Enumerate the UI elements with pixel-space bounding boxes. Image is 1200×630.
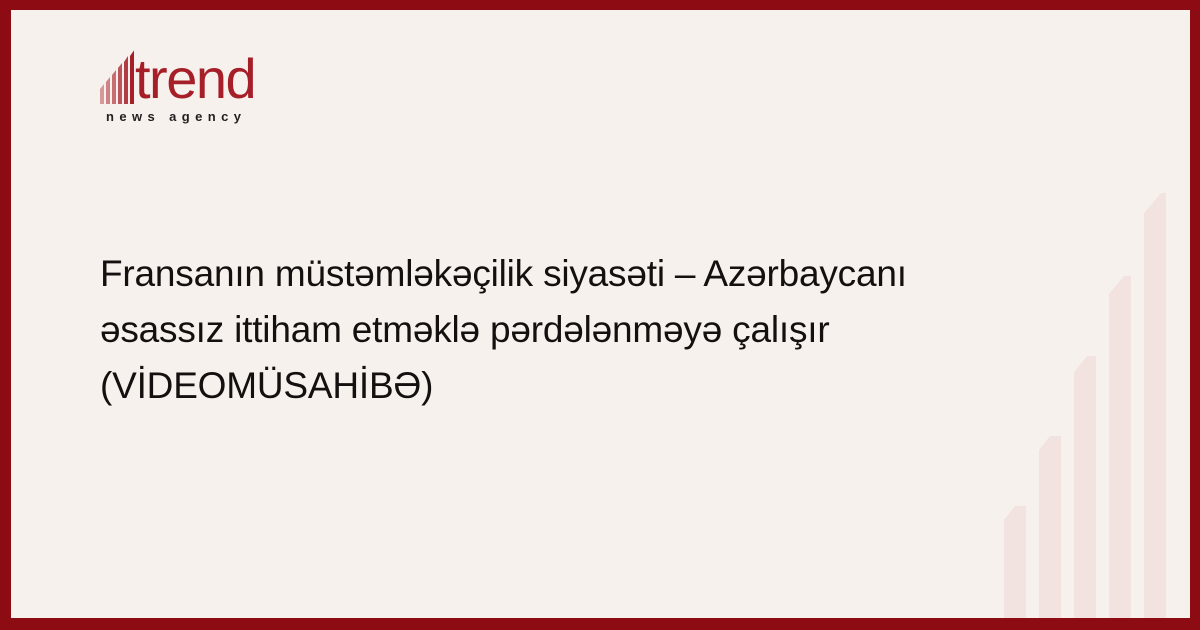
logo-mark-bar-2 bbox=[106, 77, 110, 104]
decorative-bar-1 bbox=[1004, 506, 1026, 618]
decorative-bar-3 bbox=[1074, 356, 1096, 618]
logo-mark-bar-5 bbox=[124, 56, 128, 104]
share-card: trend news agency Fransanın müstəmləkəçi… bbox=[0, 0, 1200, 630]
logo-mark-bar-4 bbox=[118, 63, 122, 104]
headline-line-2: əsassız ittiham etməklə pərdələnməyə çal… bbox=[100, 302, 1000, 358]
logo-mark-bar-3 bbox=[112, 70, 116, 104]
ascending-bars-icon bbox=[100, 48, 134, 104]
headline: Fransanın müstəmləkəçilik siyasəti – Azə… bbox=[100, 246, 1000, 414]
ascending-bars-graphic bbox=[1004, 178, 1166, 618]
logo-wordmark: trend bbox=[135, 51, 255, 107]
decorative-bar-2 bbox=[1039, 436, 1061, 618]
trend-logo[interactable]: trend news agency bbox=[100, 46, 280, 124]
logo-main-row: trend bbox=[100, 46, 280, 104]
headline-line-3: (VİDEOMÜSAHİBƏ) bbox=[100, 358, 1000, 414]
logo-mark-bar-6 bbox=[130, 49, 134, 104]
card-canvas: trend news agency Fransanın müstəmləkəçi… bbox=[11, 10, 1190, 618]
headline-line-1: Fransanın müstəmləkəçilik siyasəti – Azə… bbox=[100, 246, 1000, 302]
decorative-bar-5 bbox=[1144, 193, 1166, 618]
logo-mark-bar-1 bbox=[100, 84, 104, 104]
decorative-bar-4 bbox=[1109, 276, 1131, 618]
logo-tagline: news agency bbox=[106, 109, 280, 124]
